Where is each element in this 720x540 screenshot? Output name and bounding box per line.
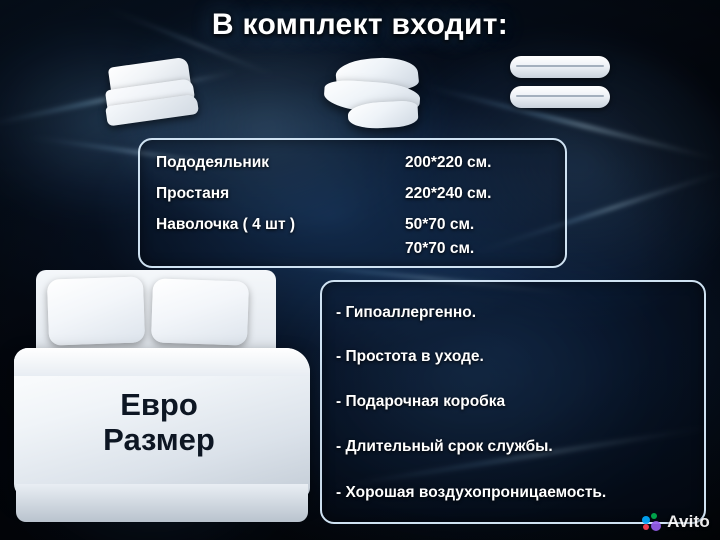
duvet-fold bbox=[14, 348, 310, 376]
avito-dots-logo-icon bbox=[642, 513, 661, 532]
rolled-pillowcases-image bbox=[510, 56, 610, 116]
spec-item-name: Наволочка ( 4 шт ) bbox=[156, 216, 295, 234]
avito-watermark: Avito bbox=[642, 512, 710, 532]
feature-item: - Длительный срок службы. bbox=[336, 438, 553, 456]
logo-dot-blue bbox=[642, 516, 650, 524]
spec-item-name: Пододеяльник bbox=[156, 154, 269, 172]
bed-base bbox=[16, 484, 308, 522]
specifications-panel: Пододеяльник 200*220 см. Простаня 220*24… bbox=[138, 138, 567, 268]
bed-size-label-line2: Размер bbox=[44, 423, 274, 458]
logo-dot-green bbox=[651, 513, 657, 519]
pillow bbox=[47, 276, 145, 345]
spec-item-value: 220*240 см. bbox=[405, 185, 491, 203]
page-title: В комплект входит: bbox=[0, 8, 720, 42]
folded-sheet-image bbox=[320, 56, 428, 132]
bed-image: Евро Размер bbox=[14, 270, 314, 525]
avito-wordmark: Avito bbox=[667, 512, 710, 532]
rolled-pillowcase bbox=[510, 86, 610, 108]
rolled-pillowcase bbox=[510, 56, 610, 78]
promo-image: В комплект входит: Пододеяльник 200*220 … bbox=[0, 0, 720, 540]
pillow bbox=[151, 278, 249, 345]
spec-item-name: Простаня bbox=[156, 185, 229, 203]
spec-item-value: 200*220 см. bbox=[405, 154, 491, 172]
bed-size-label: Евро Размер bbox=[44, 388, 274, 457]
folded-duvet-cover-image bbox=[100, 56, 204, 135]
feature-item: - Простота в уходе. bbox=[336, 348, 484, 366]
features-panel: - Гипоаллергенно. - Простота в уходе. - … bbox=[320, 280, 706, 524]
spec-item-value: 50*70 см. bbox=[405, 216, 474, 234]
logo-dot-purple bbox=[651, 521, 661, 531]
feature-item: - Подарочная коробка bbox=[336, 393, 505, 411]
bed-size-label-line1: Евро bbox=[44, 388, 274, 423]
spec-item-value-secondary: 70*70 см. bbox=[405, 240, 474, 258]
feature-item: - Гипоаллергенно. bbox=[336, 304, 476, 322]
feature-item: - Хорошая воздухопроницаемость. bbox=[336, 484, 606, 502]
logo-dot-red bbox=[643, 524, 649, 530]
